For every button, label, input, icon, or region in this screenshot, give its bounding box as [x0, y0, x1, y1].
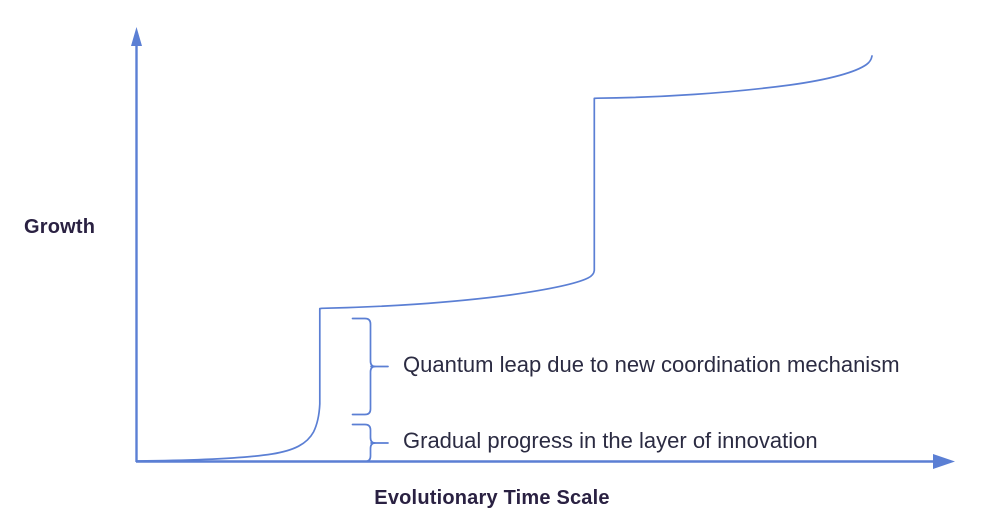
- y-axis-arrow-icon: [131, 27, 142, 46]
- annotation-label-quantum-leap: Quantum leap due to new coordination mec…: [403, 354, 900, 376]
- y-axis-title: Growth: [24, 216, 95, 239]
- x-axis-arrow-icon: [933, 454, 955, 469]
- growth-curve: [137, 56, 872, 461]
- annotation-label-gradual-progress: Gradual progress in the layer of innovat…: [403, 430, 818, 452]
- x-axis-title: Evolutionary Time Scale: [0, 487, 984, 510]
- chart-canvas: Growth Evolutionary Time Scale Quantum l…: [0, 0, 984, 526]
